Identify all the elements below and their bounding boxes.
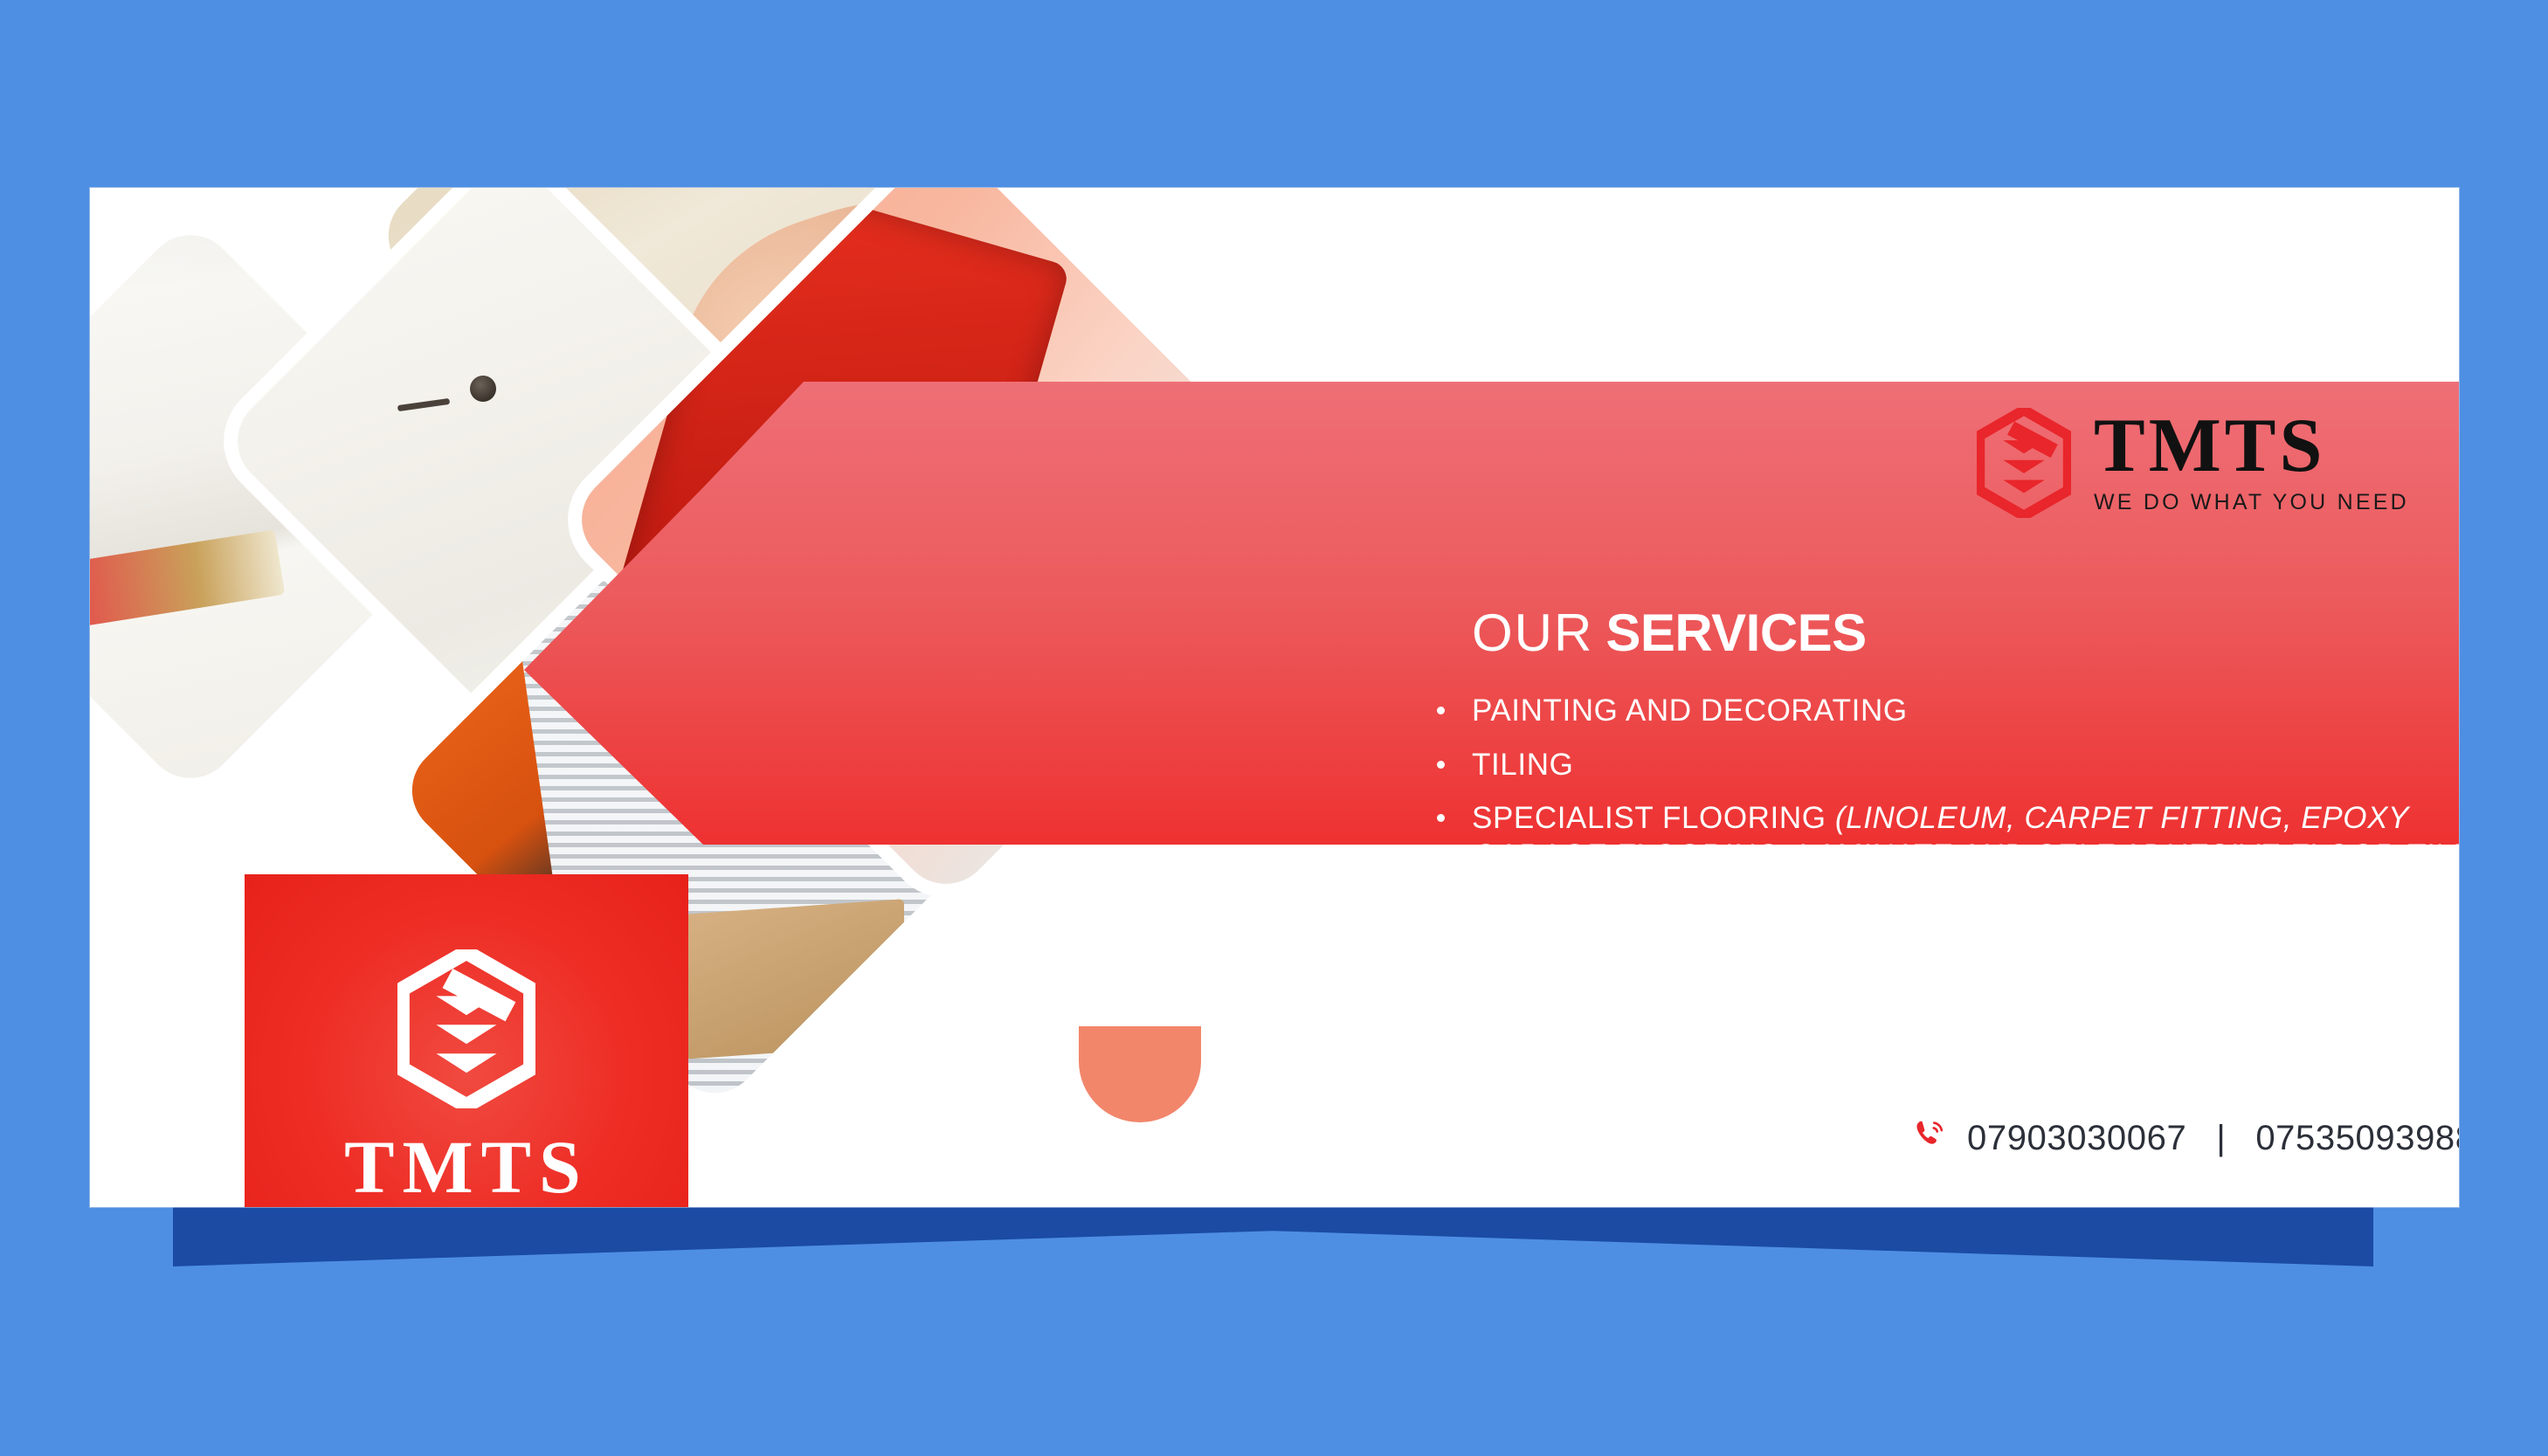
list-item: HANDY MAN JOBS (BLINDS AND CURTAINS, WAS… — [1398, 928, 2459, 966]
contact-phone-row[interactable]: 07903030067 | 07535093988 — [1911, 1115, 2459, 1161]
services-list: PAINTING AND DECORATING TILING SPECIALIS… — [1379, 693, 2459, 966]
list-item: SPECIALIST FLOORING (LINOLEUM, CARPET FI… — [1398, 800, 2459, 912]
header-logo: TMTS WE DO WHAT YOU NEED — [1977, 408, 2409, 518]
service-name: TILING — [1472, 748, 1573, 782]
phone-separator: | — [2216, 1119, 2226, 1158]
brand-wordmark: TMTS — [2094, 411, 2409, 483]
coral-accent-blob — [1079, 1026, 1201, 1122]
services-heading-light: OUR — [1472, 604, 1593, 662]
phone-primary[interactable]: 07903030067 — [1967, 1119, 2186, 1158]
list-item: TILING — [1398, 747, 2459, 784]
list-item: PAINTING AND DECORATING — [1398, 693, 2459, 730]
service-name: PAINTING AND DECORATING — [1472, 693, 1908, 728]
services-heading: OURSERVICES — [1472, 607, 2459, 659]
service-name: HANDY MAN JOBS — [1472, 929, 1759, 963]
brand-tagline: WE DO WHAT YOU NEED — [2094, 490, 2409, 515]
header-logo-words: TMTS WE DO WHAT YOU NEED — [2094, 411, 2409, 515]
service-name: SPECIALIST FLOORING — [1472, 801, 1835, 835]
services-block: OURSERVICES PAINTING AND DECORATING TILI… — [1379, 607, 2459, 983]
services-heading-bold: SERVICES — [1605, 604, 1866, 662]
phone-call-icon — [1911, 1115, 1948, 1161]
bottom-blue-band — [173, 1207, 2373, 1266]
brand-logo-card: TMTS WE DO WHAT YOU NEED — [245, 874, 688, 1207]
hexagon-chevron-logo-icon — [397, 949, 535, 1108]
service-note: (BLINDS AND CURTAINS, WASTE REMOVAL) — [1759, 929, 2424, 963]
hexagon-chevron-logo-icon — [1977, 408, 2071, 518]
banner-card: TMTS WE DO WHAT YOU NEED OURSERVICES PAI… — [90, 188, 2459, 1207]
phone-secondary[interactable]: 07535093988 — [2255, 1119, 2459, 1158]
brand-wordmark: TMTS — [344, 1129, 589, 1204]
